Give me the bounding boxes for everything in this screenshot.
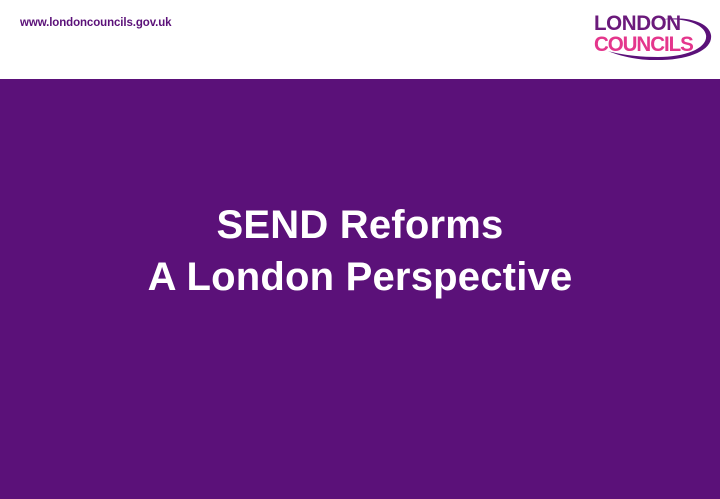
slide-header-band: www.londoncouncils.gov.uk LONDON COUNCIL… [0, 0, 720, 79]
slide-title-line-2: A London Perspective [0, 251, 720, 303]
london-councils-logo: LONDON COUNCILS [592, 4, 714, 60]
site-url-text: www.londoncouncils.gov.uk [20, 17, 171, 29]
presentation-slide: www.londoncouncils.gov.uk LONDON COUNCIL… [0, 0, 720, 499]
slide-title-line-1: SEND Reforms [0, 199, 720, 251]
slide-body-panel: SEND Reforms A London Perspective [0, 79, 720, 499]
svg-text:LONDON: LONDON [594, 12, 681, 35]
slide-title-block: SEND Reforms A London Perspective [0, 199, 720, 303]
svg-text:COUNCILS: COUNCILS [594, 33, 694, 56]
